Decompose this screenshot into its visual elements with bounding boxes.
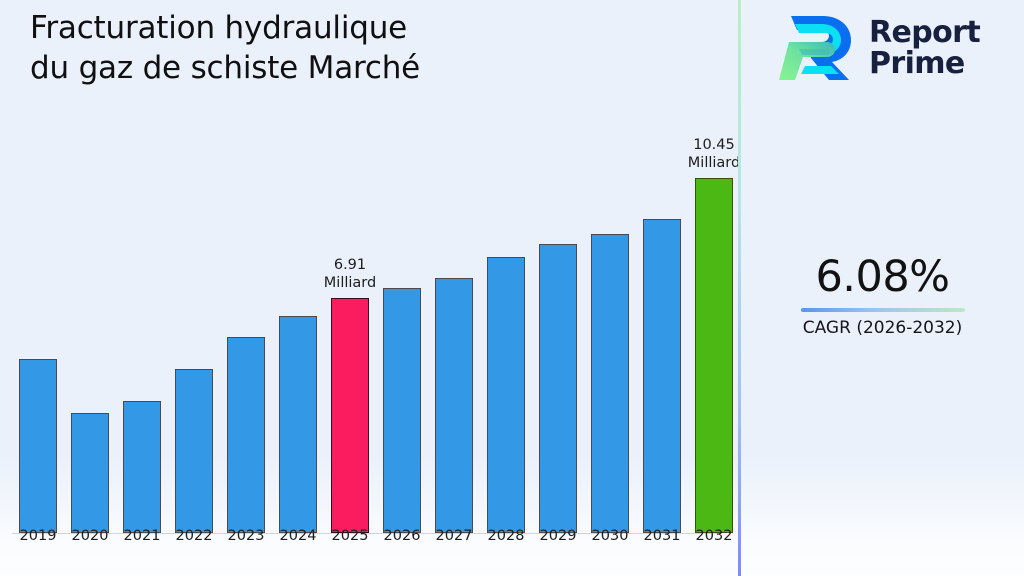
bar-2029 [539,244,577,533]
bar-chart: 2019202020212022202320242025202620272028… [0,0,739,576]
brand-panel: Report Prime 6.08% CAGR (2026-2032) [741,0,1024,576]
cagr-label: CAGR (2026-2032) [741,316,1024,340]
x-tick-2028: 2028 [480,528,532,544]
cagr-block: 6.08% CAGR (2026-2032) [741,252,1024,340]
bar-callout-2025: 6.91Milliard [305,256,395,292]
bar-2031 [643,219,681,533]
bar-callout-value-2025: 6.91 [305,256,395,274]
x-tick-2027: 2027 [428,528,480,544]
brand-logo: Report Prime [777,12,980,84]
x-tick-2029: 2029 [532,528,584,544]
x-tick-2024: 2024 [272,528,324,544]
bar-2027 [435,278,473,533]
bar-2024 [279,316,317,533]
x-tick-2030: 2030 [584,528,636,544]
bar-2021 [123,401,161,533]
bar-2032 [695,178,733,533]
cagr-value: 6.08% [741,252,1024,302]
x-tick-2019: 2019 [12,528,64,544]
x-tick-2026: 2026 [376,528,428,544]
bar-callout-unit-2025: Milliard [305,274,395,292]
bar-2025 [331,298,369,533]
bar-2020 [71,413,109,533]
x-tick-2020: 2020 [64,528,116,544]
chart-panel: Fracturation hydraulique du gaz de schis… [0,0,739,576]
cagr-divider-rule [801,308,965,312]
bar-2026 [383,288,421,533]
x-tick-2023: 2023 [220,528,272,544]
bar-2019 [19,359,57,533]
x-tick-2032: 2032 [688,528,740,544]
x-tick-2031: 2031 [636,528,688,544]
brand-name-line1: Report [869,15,980,50]
x-tick-2022: 2022 [168,528,220,544]
bar-2028 [487,257,525,533]
report-prime-logo-icon [777,12,855,84]
bar-2023 [227,337,265,533]
x-tick-2021: 2021 [116,528,168,544]
bar-2030 [591,234,629,533]
bar-2022 [175,369,213,533]
x-tick-2025: 2025 [324,528,376,544]
brand-logo-text: Report Prime [869,17,980,79]
brand-name-line2: Prime [869,46,965,81]
